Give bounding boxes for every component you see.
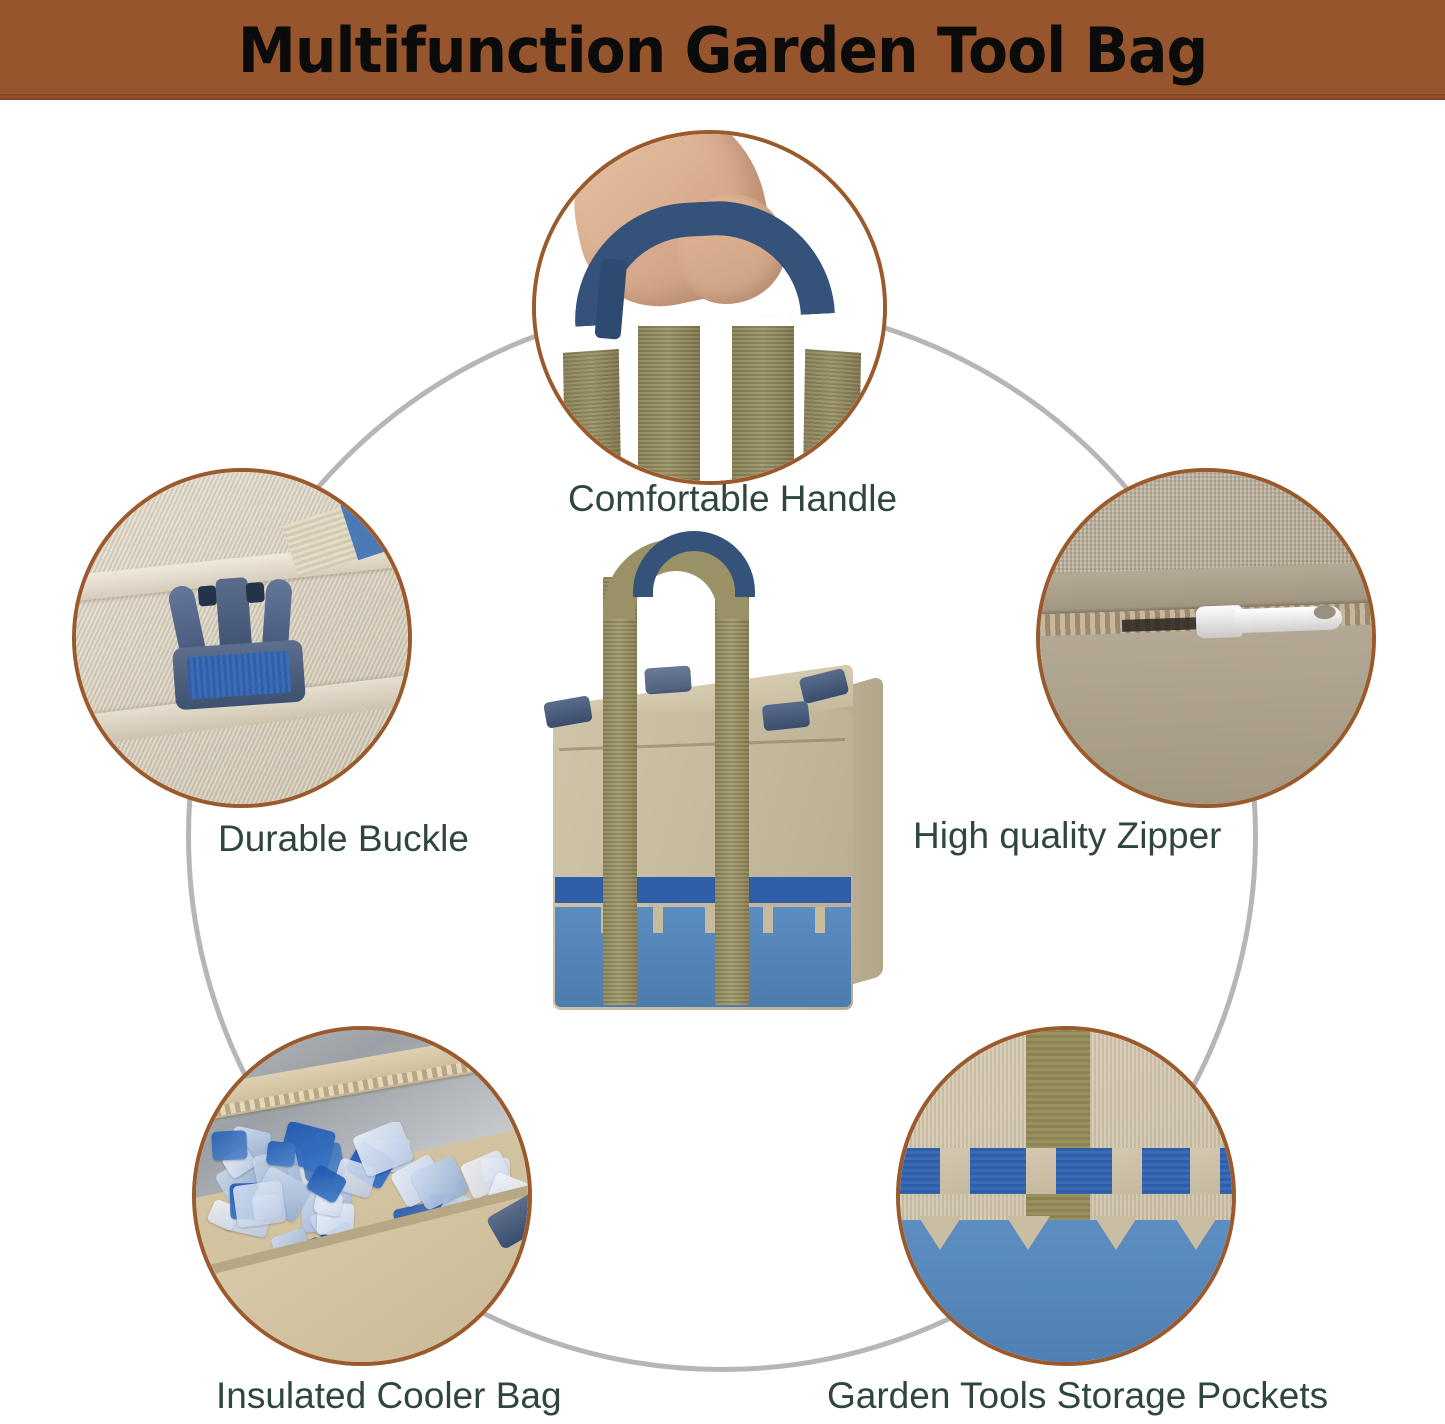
webbing-strap	[638, 326, 700, 481]
buckle-slot	[198, 585, 217, 606]
feature-photo-insulated-cooler-bag	[192, 1026, 532, 1366]
zipper-pull	[1195, 599, 1346, 640]
side-release-buckle	[158, 577, 315, 717]
bag-pocket-divider	[653, 907, 663, 1007]
ice-cube	[211, 1130, 247, 1161]
elastic-loop-notch	[1190, 1148, 1220, 1194]
buckle-slot	[246, 582, 265, 603]
bag-pocket-divider	[763, 907, 773, 1007]
pocket-divider	[1006, 1216, 1050, 1250]
ice-cube	[233, 1180, 288, 1228]
ice-cube	[266, 1141, 297, 1168]
bag-pocket-divider	[815, 907, 825, 1007]
page-title: Multifunction Garden Tool Bag	[238, 14, 1207, 87]
feature-label-high-quality-zipper: High quality Zipper	[913, 815, 1221, 857]
pocket-divider	[918, 1216, 962, 1250]
webbing-strap	[803, 349, 861, 483]
pocket-divider	[1174, 1216, 1218, 1250]
webbing-strap	[563, 349, 621, 483]
feature-photo-comfortable-handle	[532, 130, 887, 485]
pocket-divider	[1094, 1216, 1138, 1250]
elastic-loop-notch	[940, 1148, 970, 1194]
elastic-loop-notch	[1112, 1148, 1142, 1194]
bag-shoulder-strap	[603, 577, 637, 1005]
bag-elastic-loop-band	[555, 877, 851, 903]
bag-buckle	[644, 665, 692, 694]
bag-blue-pocket-panel	[555, 907, 851, 1007]
header-band: Multifunction Garden Tool Bag	[0, 0, 1445, 100]
feature-label-durable-buckle: Durable Buckle	[218, 818, 469, 860]
webbing-strap	[732, 326, 794, 481]
feature-label-garden-tools-storage-pockets: Garden Tools Storage Pockets	[827, 1375, 1328, 1417]
bag-shoulder-strap	[715, 577, 749, 1005]
feature-photo-durable-buckle	[72, 468, 412, 808]
bag-pocket-divider	[705, 907, 715, 1007]
elastic-loop-notch	[1026, 1148, 1056, 1194]
feature-label-insulated-cooler-bag: Insulated Cooler Bag	[216, 1375, 562, 1417]
bag-padded-handle	[633, 531, 755, 597]
canvas-lower-panel	[1036, 623, 1376, 808]
cooler-buckle	[486, 1191, 532, 1250]
feature-photo-high-quality-zipper	[1036, 468, 1376, 808]
center-product-image	[525, 525, 895, 1095]
bag-buckle	[762, 701, 810, 732]
blue-webbing-strap	[187, 650, 292, 699]
feature-photo-garden-tools-storage-pockets	[896, 1026, 1236, 1366]
feature-label-comfortable-handle: Comfortable Handle	[568, 478, 897, 520]
